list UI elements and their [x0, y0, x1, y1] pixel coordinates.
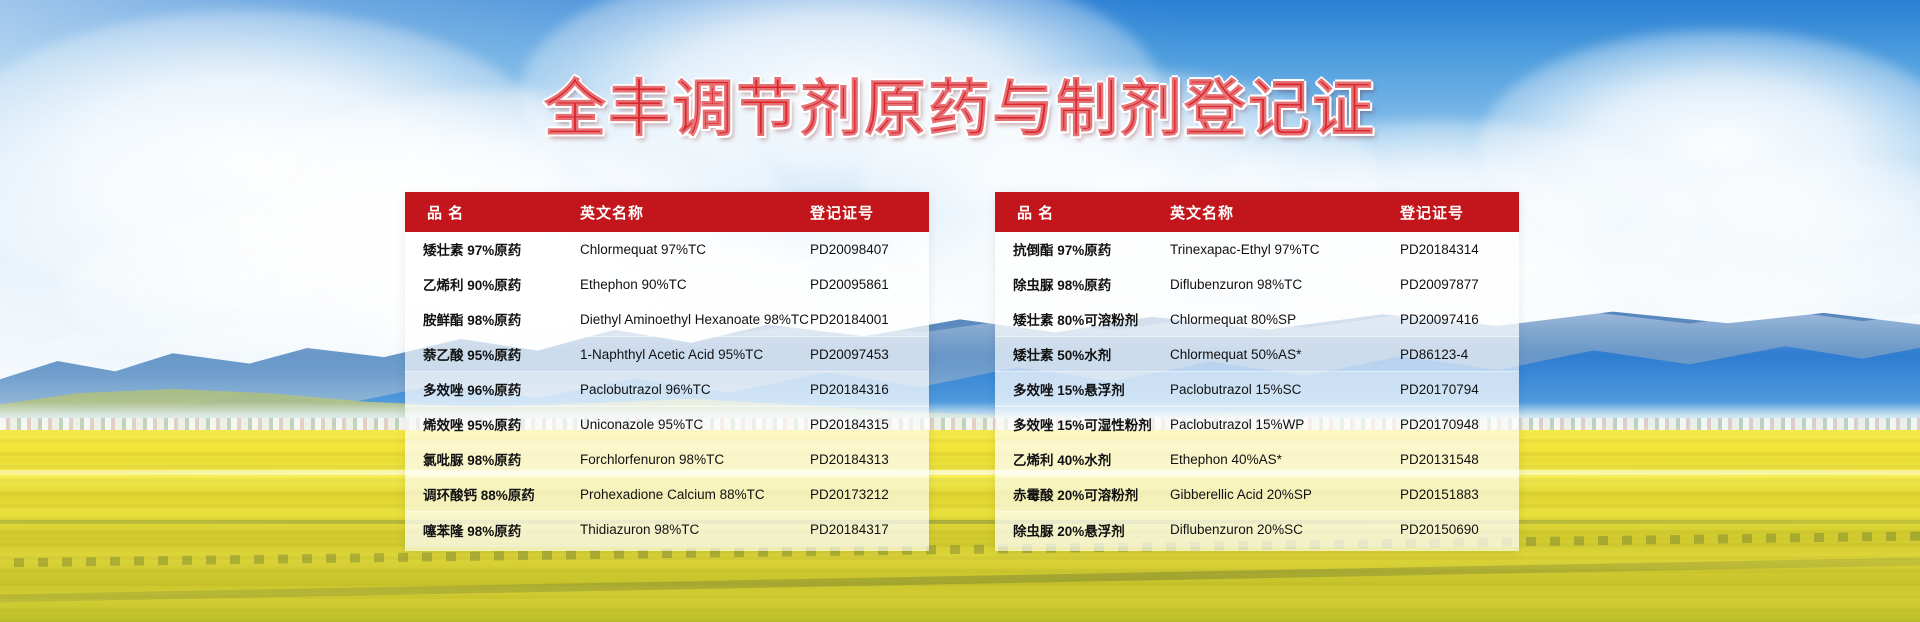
- cell-english-name: Paclobutrazol 15%SC: [1170, 382, 1400, 397]
- column-header-english: 英文名称: [580, 202, 810, 223]
- cell-product-name: 除虫脲 20%悬浮剂: [995, 520, 1170, 540]
- table-header-row: 品 名 英文名称 登记证号: [995, 192, 1519, 232]
- table-row: 萘乙酸 95%原药1-Naphthyl Acetic Acid 95%TCPD2…: [405, 337, 929, 372]
- cell-registration-number: PD20184317: [810, 522, 929, 537]
- table-row: 抗倒酯 97%原药Trinexapac-Ethyl 97%TCPD2018431…: [995, 232, 1519, 267]
- cell-product-name: 乙烯利 90%原药: [405, 274, 580, 294]
- cell-registration-number: PD20184313: [810, 452, 929, 467]
- cell-product-name: 氯吡脲 98%原药: [405, 449, 580, 469]
- cell-registration-number: PD20170948: [1400, 417, 1519, 432]
- table-header-row: 品 名 英文名称 登记证号: [405, 192, 929, 232]
- cell-product-name: 除虫脲 98%原药: [995, 274, 1170, 294]
- cell-product-name: 多效唑 96%原药: [405, 379, 580, 399]
- cell-product-name: 矮壮素 97%原药: [405, 239, 580, 259]
- cell-product-name: 调环酸钙 88%原药: [405, 484, 580, 504]
- table-row: 矮壮素 97%原药Chlormequat 97%TCPD20098407: [405, 232, 929, 267]
- cell-registration-number: PD20097453: [810, 347, 929, 362]
- cell-registration-number: PD20170794: [1400, 382, 1519, 397]
- cell-registration-number: PD20097416: [1400, 312, 1519, 327]
- cell-english-name: Gibberellic Acid 20%SP: [1170, 487, 1400, 502]
- cell-english-name: Paclobutrazol 96%TC: [580, 382, 810, 397]
- cell-product-name: 萘乙酸 95%原药: [405, 344, 580, 364]
- cell-english-name: 1-Naphthyl Acetic Acid 95%TC: [580, 347, 810, 362]
- cell-product-name: 抗倒酯 97%原药: [995, 239, 1170, 259]
- cell-registration-number: PD20184316: [810, 382, 929, 397]
- page-title: 全丰调节剂原药与制剂登记证: [0, 58, 1920, 148]
- cell-product-name: 矮壮素 50%水剂: [995, 344, 1170, 364]
- cell-registration-number: PD20150690: [1400, 522, 1519, 537]
- table-row: 矮壮素 50%水剂Chlormequat 50%AS*PD86123-4: [995, 337, 1519, 372]
- cell-english-name: Diethyl Aminoethyl Hexanoate 98%TC: [580, 312, 810, 327]
- cell-registration-number: PD20151883: [1400, 487, 1519, 502]
- cell-registration-number: PD20095861: [810, 277, 929, 292]
- field-path: [0, 470, 1920, 475]
- column-header-registration: 登记证号: [810, 202, 929, 223]
- field-path: [0, 520, 1920, 524]
- table-row: 矮壮素 80%可溶粉剂Chlormequat 80%SPPD20097416: [995, 302, 1519, 337]
- cell-registration-number: PD86123-4: [1400, 347, 1519, 362]
- table-row: 多效唑 96%原药Paclobutrazol 96%TCPD20184316: [405, 372, 929, 407]
- cell-product-name: 多效唑 15%悬浮剂: [995, 379, 1170, 399]
- cell-english-name: Prohexadione Calcium 88%TC: [580, 487, 810, 502]
- cell-english-name: Diflubenzuron 98%TC: [1170, 277, 1400, 292]
- cell-english-name: Ethephon 40%AS*: [1170, 452, 1400, 467]
- cell-english-name: Diflubenzuron 20%SC: [1170, 522, 1400, 537]
- cell-english-name: Trinexapac-Ethyl 97%TC: [1170, 242, 1400, 257]
- column-header-name: 品 名: [995, 202, 1170, 223]
- column-header-registration: 登记证号: [1400, 202, 1519, 223]
- table-row: 烯效唑 95%原药Uniconazole 95%TCPD20184315: [405, 407, 929, 442]
- cell-registration-number: PD20184314: [1400, 242, 1519, 257]
- cell-english-name: Uniconazole 95%TC: [580, 417, 810, 432]
- cell-registration-number: PD20097877: [1400, 277, 1519, 292]
- registration-table-right: 品 名 英文名称 登记证号 抗倒酯 97%原药Trinexapac-Ethyl …: [995, 192, 1519, 551]
- cell-english-name: Paclobutrazol 15%WP: [1170, 417, 1400, 432]
- cell-registration-number: PD20098407: [810, 242, 929, 257]
- table-row: 调环酸钙 88%原药Prohexadione Calcium 88%TCPD20…: [405, 477, 929, 512]
- cell-english-name: Ethephon 90%TC: [580, 277, 810, 292]
- table-row: 噻苯隆 98%原药Thidiazuron 98%TCPD20184317: [405, 512, 929, 547]
- cell-product-name: 赤霉酸 20%可溶粉剂: [995, 484, 1170, 504]
- registration-table-left: 品 名 英文名称 登记证号 矮壮素 97%原药Chlormequat 97%TC…: [405, 192, 929, 551]
- cell-registration-number: PD20184001: [810, 312, 929, 327]
- table-row: 赤霉酸 20%可溶粉剂Gibberellic Acid 20%SPPD20151…: [995, 477, 1519, 512]
- table-row: 多效唑 15%悬浮剂Paclobutrazol 15%SCPD20170794: [995, 372, 1519, 407]
- column-header-english: 英文名称: [1170, 202, 1400, 223]
- cell-product-name: 烯效唑 95%原药: [405, 414, 580, 434]
- cell-product-name: 胺鲜酯 98%原药: [405, 309, 580, 329]
- table-row: 除虫脲 20%悬浮剂Diflubenzuron 20%SCPD20150690: [995, 512, 1519, 547]
- table-row: 氯吡脲 98%原药Forchlorfenuron 98%TCPD20184313: [405, 442, 929, 477]
- cell-product-name: 矮壮素 80%可溶粉剂: [995, 309, 1170, 329]
- cell-english-name: Chlormequat 50%AS*: [1170, 347, 1400, 362]
- cell-registration-number: PD20131548: [1400, 452, 1519, 467]
- table-body: 矮壮素 97%原药Chlormequat 97%TCPD20098407乙烯利 …: [405, 232, 929, 551]
- table-body: 抗倒酯 97%原药Trinexapac-Ethyl 97%TCPD2018431…: [995, 232, 1519, 551]
- cell-product-name: 噻苯隆 98%原药: [405, 520, 580, 540]
- cell-english-name: Chlormequat 97%TC: [580, 242, 810, 257]
- table-row: 多效唑 15%可湿性粉剂Paclobutrazol 15%WPPD2017094…: [995, 407, 1519, 442]
- cell-registration-number: PD20184315: [810, 417, 929, 432]
- table-row: 胺鲜酯 98%原药Diethyl Aminoethyl Hexanoate 98…: [405, 302, 929, 337]
- cell-product-name: 乙烯利 40%水剂: [995, 449, 1170, 469]
- table-row: 乙烯利 40%水剂Ethephon 40%AS*PD20131548: [995, 442, 1519, 477]
- table-row: 乙烯利 90%原药Ethephon 90%TCPD20095861: [405, 267, 929, 302]
- cell-english-name: Forchlorfenuron 98%TC: [580, 452, 810, 467]
- cell-english-name: Thidiazuron 98%TC: [580, 522, 810, 537]
- cell-registration-number: PD20173212: [810, 487, 929, 502]
- cell-product-name: 多效唑 15%可湿性粉剂: [995, 414, 1170, 434]
- column-header-name: 品 名: [405, 202, 580, 223]
- cell-english-name: Chlormequat 80%SP: [1170, 312, 1400, 327]
- banner-stage: 全丰调节剂原药与制剂登记证 品 名 英文名称 登记证号 矮壮素 97%原药Chl…: [0, 0, 1920, 622]
- table-row: 除虫脲 98%原药Diflubenzuron 98%TCPD20097877: [995, 267, 1519, 302]
